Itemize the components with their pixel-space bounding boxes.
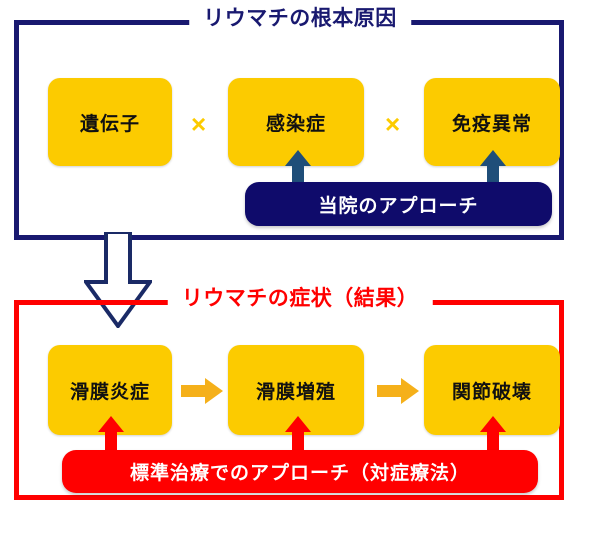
diagram-canvas: リウマチの根本原因 遺伝子 × 感染症 × 免疫異常 当院のアプローチ リウマチ…: [0, 0, 600, 540]
root-cause-section-title: リウマチの根本原因: [189, 5, 411, 32]
factor-box-gene[interactable]: 遺伝子: [48, 78, 172, 166]
symptom-section-title: リウマチの症状（結果）: [168, 285, 433, 312]
standard-treatment-approach-banner[interactable]: 標準治療でのアプローチ（対症療法）: [62, 450, 538, 493]
multiply-symbol-1: ×: [191, 111, 206, 137]
progression-arrow-2-icon: [377, 378, 419, 404]
multiply-symbol-2: ×: [385, 111, 400, 137]
progression-arrow-1-icon: [181, 378, 223, 404]
clinic-approach-banner[interactable]: 当院のアプローチ: [245, 182, 552, 226]
